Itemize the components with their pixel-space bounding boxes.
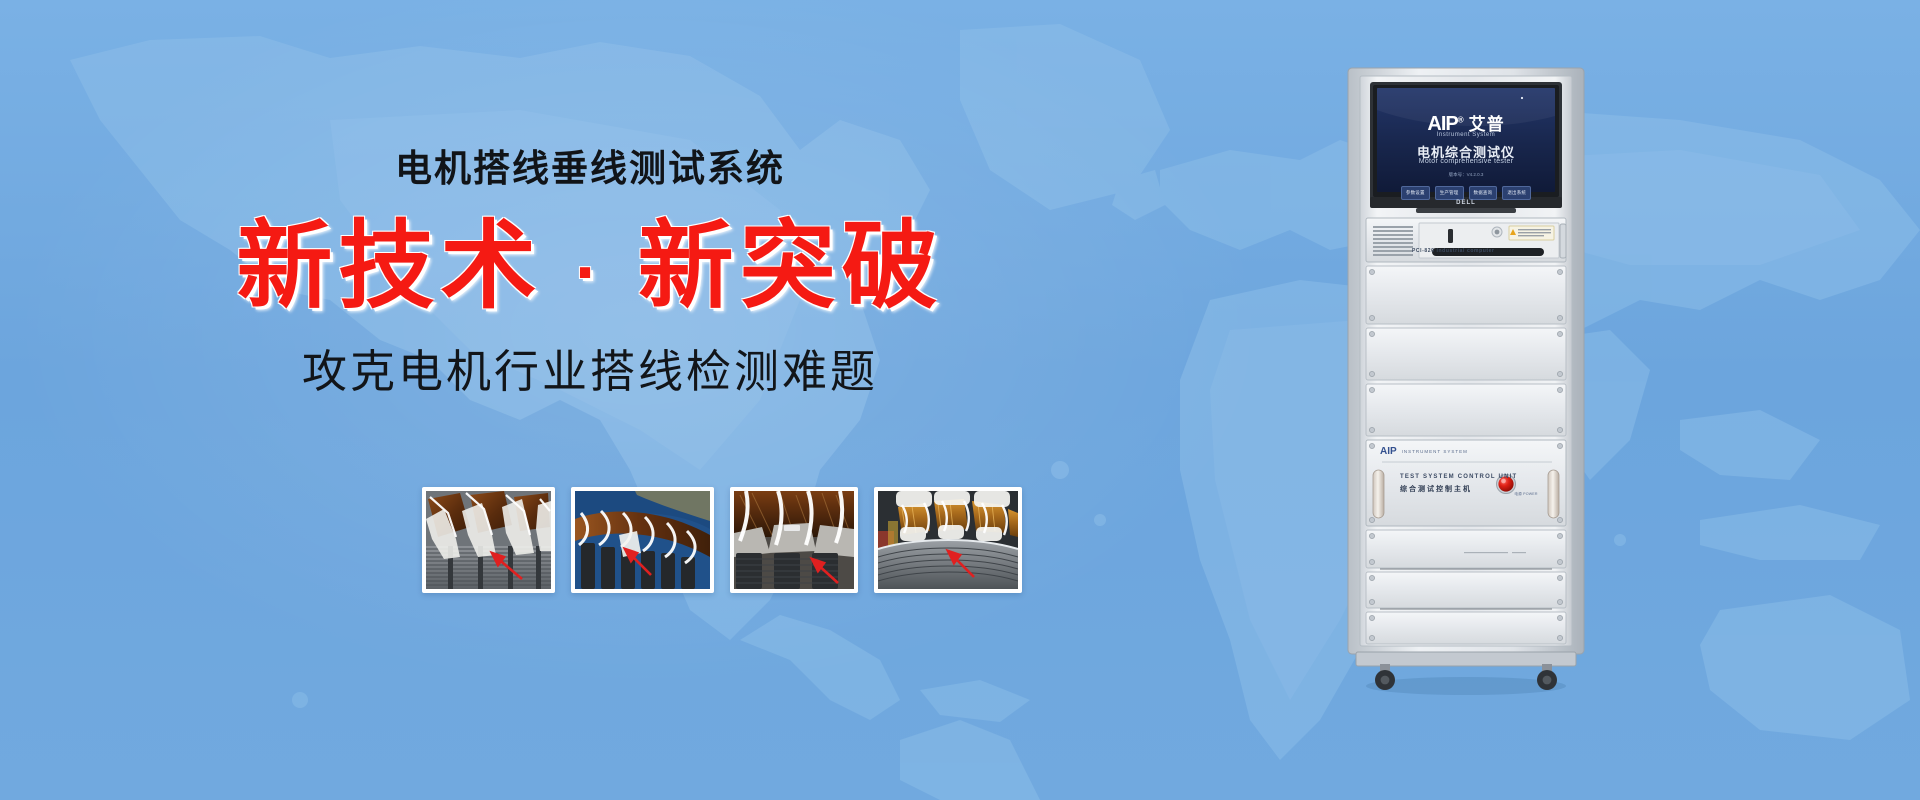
stator-winding-photo-3[interactable] <box>730 487 858 593</box>
industrial-computer-label: PCI-820 Industrial computer <box>1412 248 1495 254</box>
banner-eyebrow: 电机搭线垂线测试系统 <box>0 150 1180 187</box>
stator-winding-photo-2[interactable] <box>571 487 714 593</box>
banner-text-block: 电机搭线垂线测试系统 新技术 · 新突破 攻克电机行业搭线检测难题 <box>0 150 1180 394</box>
screen-brand-subtitle: Instrument System <box>1377 132 1555 138</box>
stator-winding-photo-1[interactable] <box>422 487 555 593</box>
promo-banner: 电机搭线垂线测试系统 新技术 · 新突破 攻克电机行业搭线检测难题 <box>0 0 1920 800</box>
screen-version-label: 版本号：V4.2.0.3 <box>1377 172 1555 178</box>
screen-title-en: Motor comprehensive tester <box>1377 158 1555 165</box>
industrial-computer-unit[interactable]: PCI-820 Industrial computer <box>1366 218 1566 262</box>
headline-part-left: 新技术 <box>236 213 542 320</box>
control-unit-title-en: TEST SYSTEM CONTROL UNIT <box>1400 474 1517 480</box>
screen-brand-registered: ® <box>1458 115 1463 124</box>
control-unit-brand: AIPINSTRUMENT SYSTEM <box>1380 446 1468 457</box>
monitor-brand-text: DELL <box>1370 200 1562 206</box>
thumbnail-strip <box>422 487 1022 593</box>
power-button-label: 电源 POWER <box>1512 492 1540 497</box>
tester-screen[interactable]: AIP®艾普 Instrument System 电机综合测试仪 Motor c… <box>1377 88 1555 192</box>
headline-part-right: 新突破 <box>638 213 944 320</box>
motor-test-cabinet: AIP®艾普 Instrument System 电机综合测试仪 Motor c… <box>1346 66 1586 706</box>
stator-winding-photo-4[interactable] <box>874 487 1022 593</box>
headline-separator-dot: · <box>575 233 605 313</box>
banner-headline: 新技术 · 新突破 <box>0 215 1180 319</box>
control-unit-panel[interactable]: AIPINSTRUMENT SYSTEM TEST SYSTEM CONTROL… <box>1366 440 1566 526</box>
monitor-brand-badge: DELL <box>1370 197 1562 208</box>
control-unit-brand-system: INSTRUMENT SYSTEM <box>1402 449 1468 454</box>
control-unit-title-cn: 综合测试控制主机 <box>1400 484 1472 494</box>
world-map-background <box>0 0 1920 800</box>
banner-tagline: 攻克电机行业搭线检测难题 <box>0 349 1180 394</box>
control-unit-brand-aip: AIP <box>1380 446 1397 457</box>
